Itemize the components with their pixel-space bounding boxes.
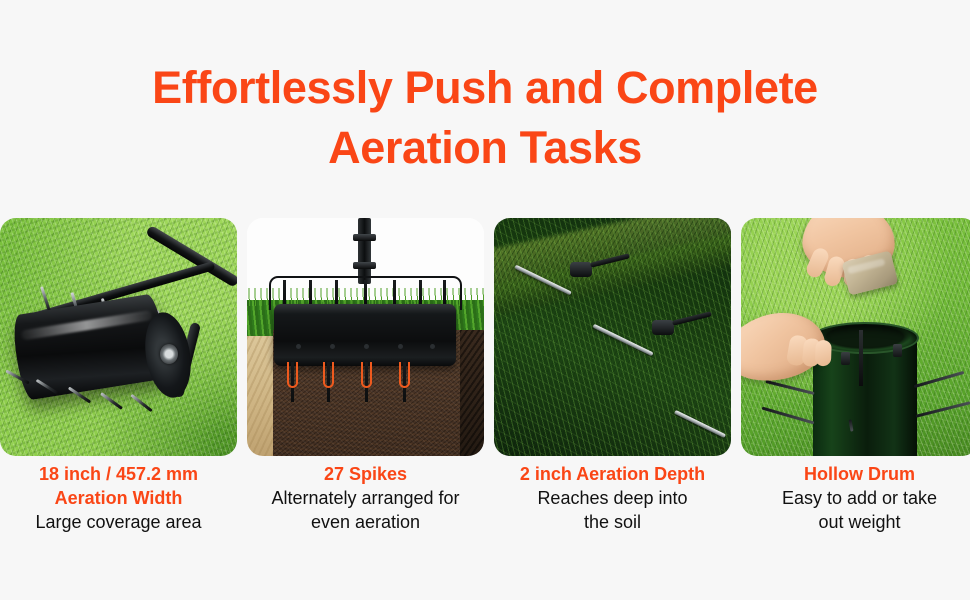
- caption-spike-count: 27 Spikes Alternately arranged for even …: [247, 462, 484, 534]
- caption-aeration-depth: 2 inch Aeration Depth Reaches deep into …: [494, 462, 731, 534]
- handle-pole: [358, 218, 371, 284]
- caption-aeration-width: 18 inch / 457.2 mm Aeration Width Large …: [0, 462, 237, 534]
- caption-heading: 27 Spikes: [247, 462, 484, 486]
- roller-drum: [274, 304, 456, 366]
- caption-subtext: Easy to add or take out weight: [741, 486, 970, 534]
- spike-upper: [309, 280, 312, 306]
- caption-heading: 2 inch Aeration Depth: [494, 462, 731, 486]
- caption-subtext: Reaches deep into the soil: [494, 486, 731, 534]
- depth-indicator: [399, 362, 410, 388]
- feature-image-aeration-width: [0, 218, 237, 456]
- feature-image-spike-count: [247, 218, 484, 456]
- sand-layer: [247, 336, 273, 456]
- caption-heading: Hollow Drum: [741, 462, 970, 486]
- roller-axle-hub: [160, 344, 178, 364]
- spike-upper: [364, 280, 367, 306]
- internal-bolt: [859, 330, 863, 386]
- caption-hollow-drum: Hollow Drum Easy to add or take out weig…: [741, 462, 970, 534]
- depth-indicator: [361, 362, 372, 388]
- caption-heading: 18 inch / 457.2 mm Aeration Width: [0, 462, 237, 510]
- soil-edge-dark: [460, 330, 484, 456]
- internal-tab: [893, 344, 902, 357]
- feature-image-aeration-depth: [494, 218, 731, 456]
- internal-tab: [841, 352, 850, 365]
- spike-upper: [419, 280, 422, 306]
- depth-indicator: [287, 362, 298, 388]
- caption-subtext: Alternately arranged for even aeration: [247, 486, 484, 534]
- caption-subtext: Large coverage area: [0, 510, 237, 534]
- spike-upper: [335, 280, 338, 306]
- feature-image-hollow-drum: [741, 218, 970, 456]
- spike-upper: [393, 280, 396, 306]
- feature-captions: 18 inch / 457.2 mm Aeration Width Large …: [0, 462, 970, 534]
- feature-image-strip: [0, 218, 970, 456]
- page-title: Effortlessly Push and Complete Aeration …: [0, 58, 970, 178]
- spike-upper: [443, 280, 446, 306]
- depth-indicator: [323, 362, 334, 388]
- spike-upper: [283, 280, 286, 306]
